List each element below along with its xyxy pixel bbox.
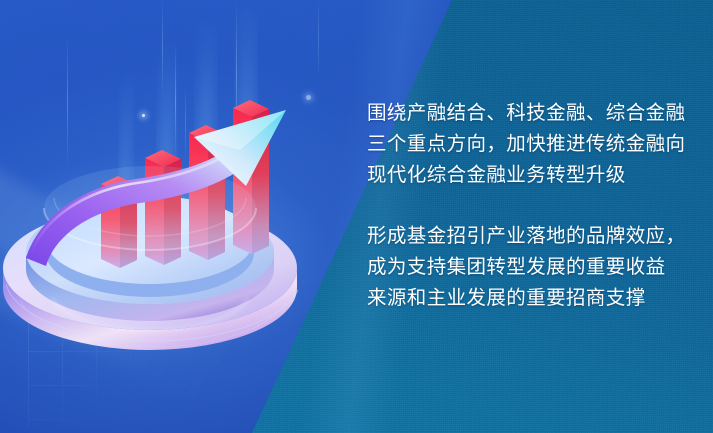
paragraph-outcome-line-2: 成为支持集团转型发展的重要收益 (367, 252, 677, 283)
paragraph-outcome: 形成基金招引产业落地的品牌效应， 成为支持集团转型发展的重要收益 来源和主业发展… (367, 221, 677, 314)
paragraph-strategy-line-1: 围绕产融结合、科技金融、综合金融 (367, 98, 677, 129)
paragraph-outcome-line-1: 形成基金招引产业落地的品牌效应， (367, 221, 677, 252)
paragraph-strategy-line-2: 三个重点方向，加快推进传统金融向 (367, 129, 677, 160)
paragraph-strategy-line-3: 现代化综合金融业务转型升级 (367, 160, 677, 191)
growth-chart-illustration (0, 0, 360, 433)
copy-block: 围绕产融结合、科技金融、综合金融 三个重点方向，加快推进传统金融向 现代化综合金… (367, 98, 677, 314)
paragraph-strategy: 围绕产融结合、科技金融、综合金融 三个重点方向，加快推进传统金融向 现代化综合金… (367, 98, 677, 191)
banner-canvas: 围绕产融结合、科技金融、综合金融 三个重点方向，加快推进传统金融向 现代化综合金… (0, 0, 713, 433)
paragraph-outcome-line-3: 来源和主业发展的重要招商支撑 (367, 283, 677, 314)
